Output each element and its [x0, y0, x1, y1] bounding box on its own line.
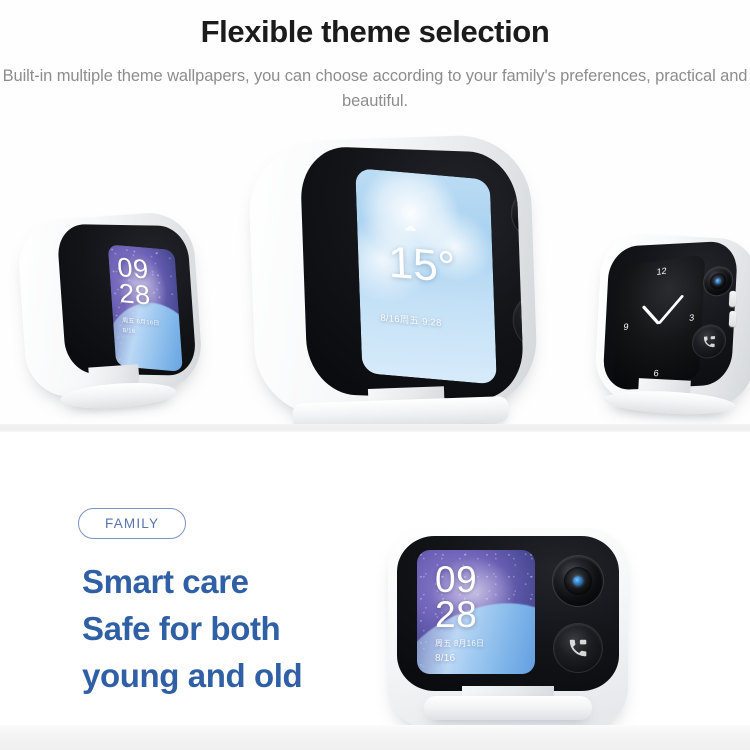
- screen-clock-hours: 09: [435, 563, 477, 597]
- device-side-button-up[interactable]: [729, 291, 737, 307]
- smart-display-device-left[interactable]: 09 28 周五 8月16日 8/16: [16, 210, 204, 400]
- smart-display-device-center[interactable]: ☁ 15° 8/16周五 9:28: [247, 133, 538, 419]
- device-base: [424, 696, 592, 720]
- screen-date-line1: 周五 8月16日: [435, 638, 484, 650]
- device-front-glass: 09 28 周五 8月16日 8/16: [56, 224, 197, 376]
- cloud-icon: ☁: [403, 218, 426, 234]
- theme-selection-section: Flexible theme selection Built-in multip…: [0, 0, 750, 432]
- clock-numeral-12: 12: [656, 266, 667, 277]
- device-front-glass: 09 28 周五 8月16日 8/16: [397, 536, 619, 691]
- device-screen-bottom[interactable]: 09 28 周五 8月16日 8/16: [417, 550, 535, 674]
- device-screen-center[interactable]: ☁ 15° 8/16周五 9:28: [355, 168, 497, 385]
- clock-minute-hand: [658, 294, 684, 324]
- screen-clock-minutes: 28: [118, 281, 151, 308]
- device-screen-right[interactable]: 12 3 6 9: [612, 254, 705, 390]
- heading-block: Flexible theme selection Built-in multip…: [0, 12, 750, 114]
- smart-display-device-right[interactable]: 12 3 6 9: [594, 232, 750, 408]
- screen-date-line2: 8/16: [435, 651, 455, 666]
- device-front-glass: ☁ 15° 8/16周五 9:28: [299, 146, 524, 401]
- headline-line-2: Safe for both: [82, 605, 302, 652]
- clock-numeral-6: 6: [653, 368, 659, 379]
- video-call-icon[interactable]: [554, 624, 602, 672]
- camera-lens-icon: [703, 267, 733, 296]
- analog-clock-icon: 12 3 6 9: [612, 254, 705, 390]
- family-care-section: FAMILY Smart care Safe for both young an…: [0, 432, 750, 750]
- device-side-button-down[interactable]: [729, 311, 737, 327]
- device-screen-left[interactable]: 09 28 周五 8月16日 8/16: [108, 244, 183, 371]
- page-subtitle: Built-in multiple theme wallpapers, you …: [0, 64, 750, 114]
- clock-numeral-3: 3: [689, 312, 695, 323]
- screen-temperature: 15°: [388, 241, 456, 291]
- page-title: Flexible theme selection: [0, 12, 750, 52]
- device-front-glass: 12 3 6 9: [602, 240, 738, 391]
- camera-lens-icon: [553, 556, 603, 606]
- screen-date-line2: 8/16: [123, 327, 136, 337]
- section-headline: Smart care Safe for both young and old: [82, 558, 302, 700]
- bottom-shelf-divider: [0, 725, 750, 750]
- screen-clock-minutes: 28: [435, 598, 477, 632]
- headline-line-3: young and old: [82, 652, 302, 699]
- smart-display-device-bottom[interactable]: 09 28 周五 8月16日 8/16: [388, 528, 628, 728]
- headline-line-1: Smart care: [82, 558, 302, 605]
- status-badge: FAMILY: [78, 508, 186, 539]
- clock-numeral-9: 9: [623, 321, 629, 332]
